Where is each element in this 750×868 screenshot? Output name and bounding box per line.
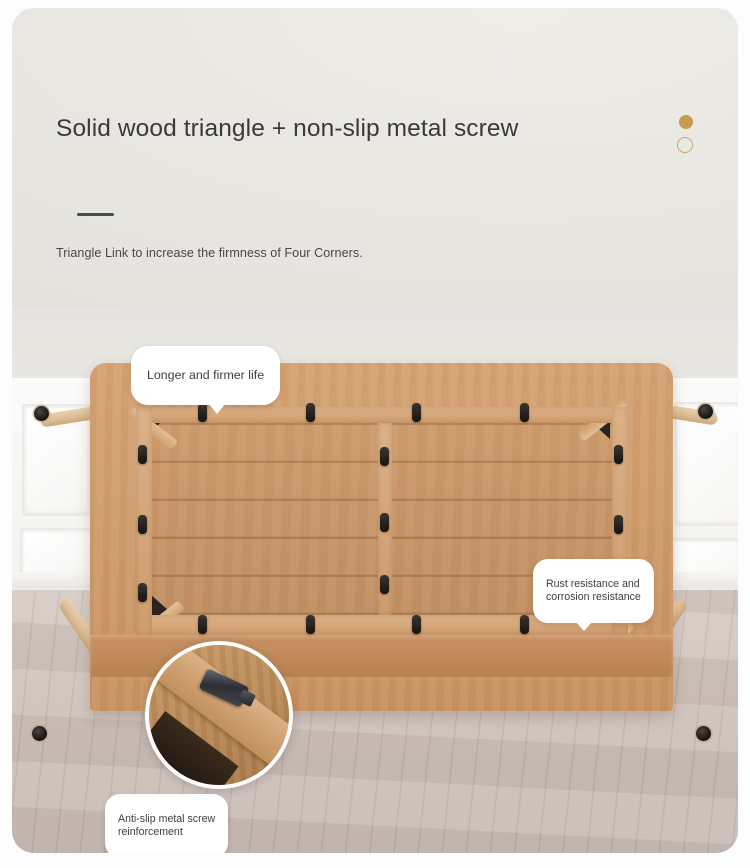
callout-longer-firmer-life[interactable]: Longer and firmer life (131, 346, 280, 405)
metal-bracket (614, 445, 623, 464)
callout-pointer-icon (575, 621, 593, 631)
leg-foot-cap (698, 404, 713, 419)
metal-bracket (520, 615, 529, 634)
metal-bracket (138, 445, 147, 464)
metal-bracket (412, 615, 421, 634)
callout-anti-slip-screw[interactable]: Anti-slip metal screw reinforcement (105, 794, 228, 853)
leg-foot-cap (696, 726, 711, 741)
metal-bracket (412, 403, 421, 422)
callout-text: Anti-slip metal screw reinforcement (118, 813, 215, 838)
metal-bracket (380, 575, 389, 594)
feature-card: Solid wood triangle + non-slip metal scr… (12, 8, 738, 853)
detail-zoom-inset (145, 641, 293, 789)
metal-bracket (380, 447, 389, 466)
callout-pointer-icon (208, 403, 226, 414)
metal-bracket (138, 515, 147, 534)
metal-bracket (380, 513, 389, 532)
callout-rust-resistance[interactable]: Rust resistance and corrosion resistance (533, 559, 654, 623)
page-title: Solid wood triangle + non-slip metal scr… (56, 115, 518, 143)
metal-bracket (306, 615, 315, 634)
metal-bracket (138, 583, 147, 602)
callout-text: Rust resistance and corrosion resistance (546, 578, 641, 603)
detail-zoom-image (145, 641, 293, 789)
leg-foot-cap (34, 406, 49, 421)
metal-bracket (198, 403, 207, 422)
outline-circle-icon (677, 137, 693, 153)
metal-bracket (306, 403, 315, 422)
leg-foot-cap (32, 726, 47, 741)
filled-circle-icon (679, 115, 693, 129)
metal-bracket (198, 615, 207, 634)
metal-bracket (520, 403, 529, 422)
callout-text: Longer and firmer life (147, 368, 264, 382)
metal-bracket (614, 515, 623, 534)
product-feature-page: Solid wood triangle + non-slip metal scr… (0, 0, 750, 868)
page-subtitle: Triangle Link to increase the firmness o… (56, 246, 363, 260)
title-divider (77, 213, 114, 216)
